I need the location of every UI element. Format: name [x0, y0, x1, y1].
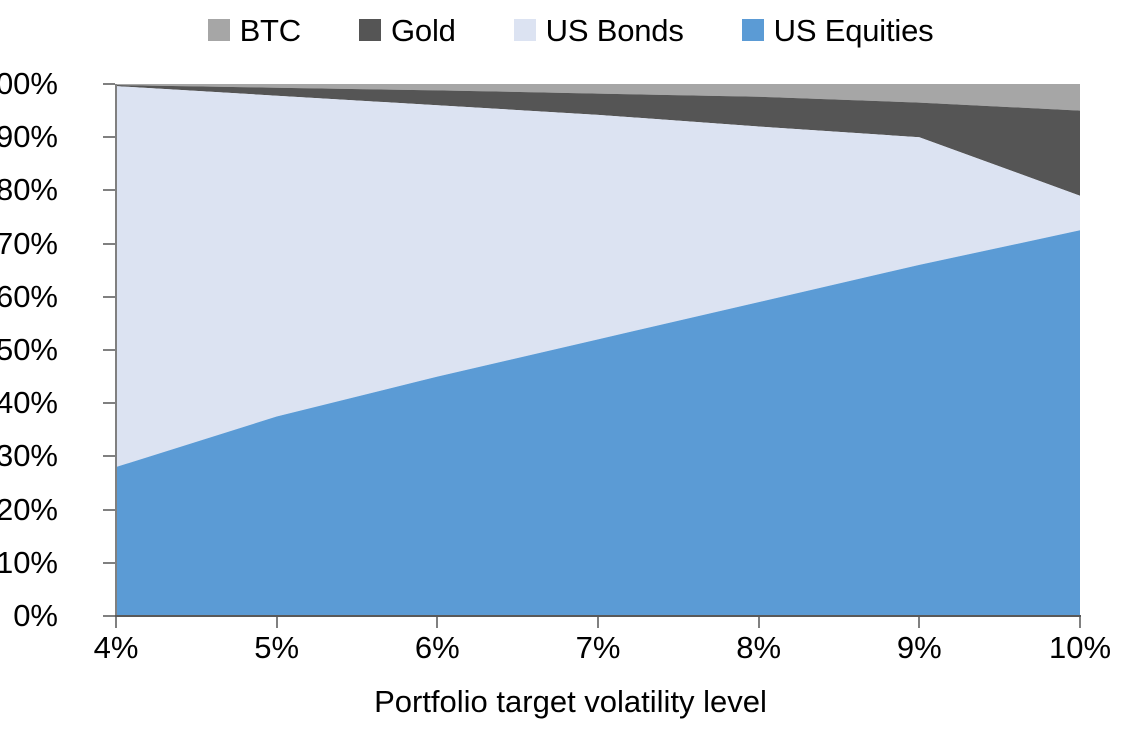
y-tick-label: 50%	[0, 334, 58, 365]
y-tick-mark	[103, 243, 115, 245]
y-tick-label: 10%	[0, 547, 58, 578]
x-tick-label: 7%	[538, 632, 658, 663]
area-series-canvas	[116, 84, 1080, 616]
x-tick-label: 10%	[1020, 632, 1140, 663]
x-tick-label: 6%	[377, 632, 497, 663]
legend-label-btc: BTC	[240, 15, 301, 46]
legend-label-gold: Gold	[391, 15, 456, 46]
legend-swatch-us-bonds	[514, 19, 536, 41]
x-tick-label: 8%	[699, 632, 819, 663]
x-tick-mark	[918, 617, 920, 628]
stacked-area-chart: BTC Gold US Bonds US Equities 0%10%20%30…	[0, 0, 1141, 742]
y-tick-mark	[103, 189, 115, 191]
legend-item-us-equities[interactable]: US Equities	[742, 15, 934, 46]
legend-item-us-bonds[interactable]: US Bonds	[514, 15, 684, 46]
legend-label-us-equities: US Equities	[774, 15, 934, 46]
x-tick-mark	[1079, 617, 1081, 628]
y-tick-mark	[103, 615, 115, 617]
y-tick-mark	[103, 455, 115, 457]
x-tick-mark	[436, 617, 438, 628]
y-tick-mark	[103, 136, 115, 138]
x-tick-label: 5%	[217, 632, 337, 663]
x-tick-mark	[276, 617, 278, 628]
y-tick-label: 100%	[0, 68, 58, 99]
y-tick-label: 90%	[0, 121, 58, 152]
plot-area	[116, 84, 1080, 616]
legend-label-us-bonds: US Bonds	[546, 15, 684, 46]
legend-item-gold[interactable]: Gold	[359, 15, 456, 46]
y-tick-mark	[103, 349, 115, 351]
x-tick-label: 9%	[859, 632, 979, 663]
y-tick-mark	[103, 509, 115, 511]
y-tick-label: 70%	[0, 228, 58, 259]
y-tick-mark	[103, 83, 115, 85]
y-axis-line	[115, 84, 117, 617]
y-tick-label: 40%	[0, 387, 58, 418]
x-tick-label: 4%	[56, 632, 176, 663]
y-tick-label: 80%	[0, 174, 58, 205]
chart-legend: BTC Gold US Bonds US Equities	[0, 8, 1141, 52]
y-tick-label: 20%	[0, 494, 58, 525]
x-tick-mark	[597, 617, 599, 628]
y-tick-mark	[103, 402, 115, 404]
y-tick-label: 0%	[13, 600, 58, 631]
y-tick-label: 60%	[0, 281, 58, 312]
x-axis-title: Portfolio target volatility level	[0, 686, 1141, 717]
y-tick-label: 30%	[0, 440, 58, 471]
legend-swatch-gold	[359, 19, 381, 41]
legend-item-btc[interactable]: BTC	[208, 15, 301, 46]
x-tick-mark	[115, 617, 117, 628]
y-tick-mark	[103, 296, 115, 298]
x-tick-mark	[758, 617, 760, 628]
y-tick-mark	[103, 562, 115, 564]
legend-swatch-btc	[208, 19, 230, 41]
legend-swatch-us-equities	[742, 19, 764, 41]
